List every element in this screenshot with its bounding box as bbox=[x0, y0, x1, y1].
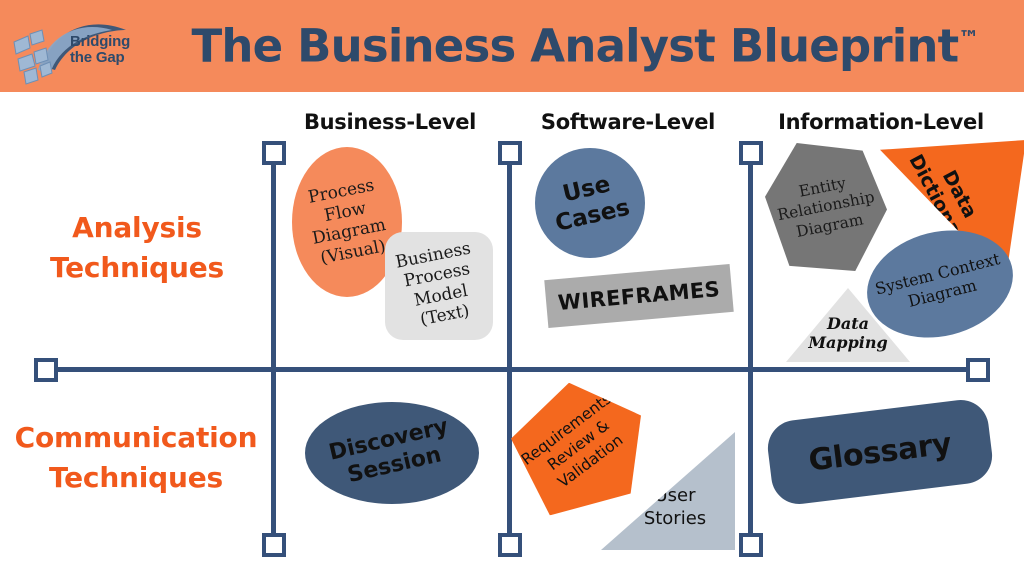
shape-use-cases[interactable]: Use Cases bbox=[535, 148, 645, 258]
row-label-communication-techniques: Communication Techniques bbox=[2, 418, 270, 498]
column-header-business-level: Business-Level bbox=[292, 110, 488, 134]
page-title-text: The Business Analyst Blueprint bbox=[191, 20, 958, 73]
shape-business-process-model-label: Business Process Model (Text) bbox=[394, 239, 484, 334]
logo-line-2: the Gap bbox=[70, 50, 130, 66]
logo-wordmark: Bridging the Gap bbox=[70, 34, 130, 66]
blueprint-matrix-page: Bridging the Gap The Business Analyst Bl… bbox=[0, 0, 1024, 576]
horizontal-axis-line bbox=[48, 367, 980, 372]
shape-entity-relationship-diagram[interactable]: Entity Relationship Diagram bbox=[765, 143, 887, 271]
divider-2-cap-top bbox=[498, 141, 522, 165]
vertical-divider-2 bbox=[507, 150, 512, 544]
divider-1-cap-top bbox=[262, 141, 286, 165]
column-header-information-level: Information-Level bbox=[758, 110, 1004, 134]
logo-line-1: Bridging bbox=[70, 34, 130, 50]
column-header-software-level: Software-Level bbox=[530, 110, 726, 134]
shape-discovery-session[interactable]: Discovery Session bbox=[305, 402, 479, 504]
axis-cap-right bbox=[966, 358, 990, 382]
vertical-divider-3 bbox=[748, 150, 753, 544]
shape-glossary-label: Glossary bbox=[807, 426, 954, 478]
divider-3-cap-bottom bbox=[739, 533, 763, 557]
shape-glossary[interactable]: Glossary bbox=[765, 397, 996, 507]
axis-cap-left bbox=[34, 358, 58, 382]
dm-line-1: Data bbox=[827, 314, 869, 333]
divider-3-cap-top bbox=[739, 141, 763, 165]
page-title: The Business Analyst Blueprint™ bbox=[150, 20, 1020, 73]
row-label-analysis-line-1: Analysis bbox=[8, 208, 266, 248]
trademark-symbol: ™ bbox=[958, 27, 978, 51]
divider-1-cap-bottom bbox=[262, 533, 286, 557]
shape-discovery-session-label: Discovery Session bbox=[327, 414, 457, 493]
divider-2-cap-bottom bbox=[498, 533, 522, 557]
shape-wireframes-label: WIREFRAMES bbox=[557, 277, 721, 315]
us-line-1: User bbox=[654, 485, 695, 506]
shape-requirements-review-validation-label: Requirements Review & Validation bbox=[518, 390, 640, 502]
vertical-divider-1 bbox=[271, 150, 276, 544]
bridging-the-gap-logo: Bridging the Gap bbox=[8, 4, 158, 90]
shape-use-cases-label: Use Cases bbox=[547, 168, 633, 238]
row-label-analysis-techniques: Analysis Techniques bbox=[8, 208, 266, 288]
dm-line-2: Mapping bbox=[808, 333, 887, 352]
shape-system-context-diagram-label: System Context Diagram bbox=[873, 249, 1007, 319]
shape-wireframes[interactable]: WIREFRAMES bbox=[544, 264, 733, 328]
row-label-communication-line-2: Techniques bbox=[2, 458, 270, 498]
row-label-communication-line-1: Communication bbox=[2, 418, 270, 458]
shape-business-process-model[interactable]: Business Process Model (Text) bbox=[385, 232, 493, 340]
page-header: Bridging the Gap The Business Analyst Bl… bbox=[0, 0, 1024, 92]
shape-requirements-review-validation[interactable]: Requirements Review & Validation bbox=[504, 372, 654, 519]
shape-process-flow-diagram-label: Process Flow Diagram (Visual) bbox=[303, 174, 392, 270]
row-label-analysis-line-2: Techniques bbox=[8, 248, 266, 288]
us-line-2: Stories bbox=[644, 508, 706, 529]
shape-entity-relationship-diagram-label: Entity Relationship Diagram bbox=[772, 169, 880, 245]
shape-user-stories-label: User Stories bbox=[615, 484, 735, 531]
